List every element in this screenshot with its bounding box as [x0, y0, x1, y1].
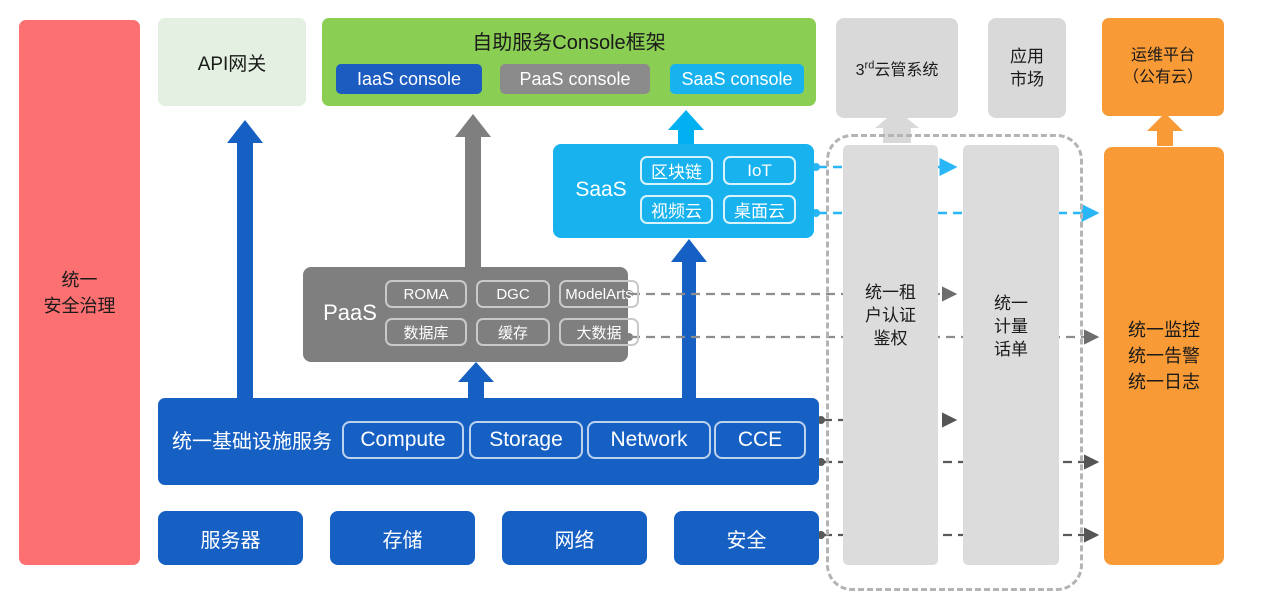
arrow-infra-to-saas — [671, 239, 707, 398]
infra-service-label: Storage — [489, 428, 563, 452]
infra-service-cce[interactable]: CCE — [714, 421, 806, 459]
api-gateway-label: API网关 — [198, 49, 267, 76]
saas-console-chip[interactable]: SaaS console — [670, 64, 804, 94]
hardware-label: 存储 — [383, 524, 423, 553]
third-party-suffix: 云管系统 — [874, 62, 938, 79]
infra-service-compute[interactable]: Compute — [342, 421, 464, 459]
app-market-label: 应用 市场 — [1010, 45, 1044, 91]
paas-service-label: ModelArts — [565, 286, 633, 303]
infra-service-label: CCE — [738, 428, 782, 452]
paas-service-roma[interactable]: ROMA — [385, 280, 467, 308]
arrow-infra-to-paas — [458, 362, 494, 398]
third-party-cloud-management-label: 3rd云管系统 — [856, 56, 939, 80]
unified-ops-label: 统一监控 统一告警 统一日志 — [1128, 317, 1200, 395]
shared-service-label-metering: 统一 计量 话单 — [963, 292, 1059, 361]
arrow-paas-to-paas-console — [455, 114, 491, 267]
hardware-box-network[interactable]: 网络 — [502, 511, 647, 565]
saas-service-iot[interactable]: IoT — [723, 156, 796, 185]
saas-service-label: 视频云 — [651, 197, 702, 222]
hardware-label: 安全 — [727, 524, 767, 553]
console-framework-title: 自助服务Console框架 — [322, 26, 816, 55]
shared-service-column-tenant-auth[interactable] — [843, 145, 938, 565]
saas-service-label: 区块链 — [651, 158, 702, 183]
hardware-label: 网络 — [555, 524, 595, 553]
arrow-saas-to-saas-console — [668, 110, 704, 146]
app-market-box[interactable]: 应用 市场 — [988, 18, 1066, 118]
hardware-label: 服务器 — [201, 524, 261, 553]
paas-service-bigdata[interactable]: 大数据 — [559, 318, 639, 346]
paas-service-label: 大数据 — [576, 322, 621, 343]
paas-layer-label: PaaS — [311, 300, 389, 326]
paas-service-database[interactable]: 数据库 — [385, 318, 467, 346]
third-party-cloud-management-box[interactable]: 3rd云管系统 — [836, 18, 958, 118]
saas-service-blockchain[interactable]: 区块链 — [640, 156, 713, 185]
unified-infrastructure-label: 统一基础设施服务 — [172, 425, 332, 454]
iaas-console-chip[interactable]: IaaS console — [336, 64, 482, 94]
architecture-diagram: 统一 安全治理 API网关 自助服务Console框架 IaaS console… — [0, 0, 1265, 605]
saas-console-label: SaaS console — [681, 69, 792, 90]
saas-layer-label: SaaS — [565, 178, 637, 202]
iaas-console-label: IaaS console — [357, 69, 461, 90]
arrow-infra-to-api-gateway — [227, 120, 263, 398]
hardware-box-security[interactable]: 安全 — [674, 511, 819, 565]
third-party-prefix: 3 — [856, 62, 865, 79]
security-governance-label: 统一 安全治理 — [44, 267, 116, 319]
ops-platform-box[interactable]: 运维平台 （公有云） — [1102, 18, 1224, 116]
saas-service-desktop-cloud[interactable]: 桌面云 — [723, 195, 796, 224]
paas-service-label: 数据库 — [403, 322, 448, 343]
paas-service-label: ROMA — [404, 286, 449, 303]
arrow-ops-to-ops-platform — [1147, 113, 1183, 146]
saas-service-label: IoT — [747, 161, 772, 181]
infra-service-storage[interactable]: Storage — [469, 421, 583, 459]
ops-platform-label: 运维平台 （公有云） — [1123, 45, 1203, 89]
infra-service-label: Compute — [360, 428, 445, 452]
security-governance-panel: 统一 安全治理 — [19, 20, 140, 565]
paas-service-label: DGC — [496, 286, 529, 303]
paas-layer-box: PaaS ROMA DGC ModelArts 数据库 缓存 大数据 — [303, 267, 628, 362]
saas-service-label: 桌面云 — [734, 197, 785, 222]
third-party-superscript: rd — [865, 60, 875, 72]
console-framework-box: 自助服务Console框架 IaaS console PaaS console … — [322, 18, 816, 106]
paas-service-label: 缓存 — [498, 322, 528, 343]
paas-service-cache[interactable]: 缓存 — [476, 318, 550, 346]
api-gateway-box[interactable]: API网关 — [158, 18, 306, 106]
unified-infrastructure-box: 统一基础设施服务 Compute Storage Network CCE — [158, 398, 819, 485]
paas-console-label: PaaS console — [519, 69, 630, 90]
hardware-box-storage[interactable]: 存储 — [330, 511, 475, 565]
infra-service-network[interactable]: Network — [587, 421, 711, 459]
infra-service-label: Network — [610, 428, 687, 452]
paas-service-modelarts[interactable]: ModelArts — [559, 280, 639, 308]
saas-layer-box: SaaS 区块链 IoT 视频云 桌面云 — [553, 144, 814, 238]
shared-service-label-tenant-auth: 统一租 户认证 鉴权 — [843, 281, 938, 350]
saas-service-video-cloud[interactable]: 视频云 — [640, 195, 713, 224]
paas-service-dgc[interactable]: DGC — [476, 280, 550, 308]
hardware-box-server[interactable]: 服务器 — [158, 511, 303, 565]
paas-console-chip[interactable]: PaaS console — [500, 64, 650, 94]
unified-ops-column[interactable]: 统一监控 统一告警 统一日志 — [1104, 147, 1224, 565]
